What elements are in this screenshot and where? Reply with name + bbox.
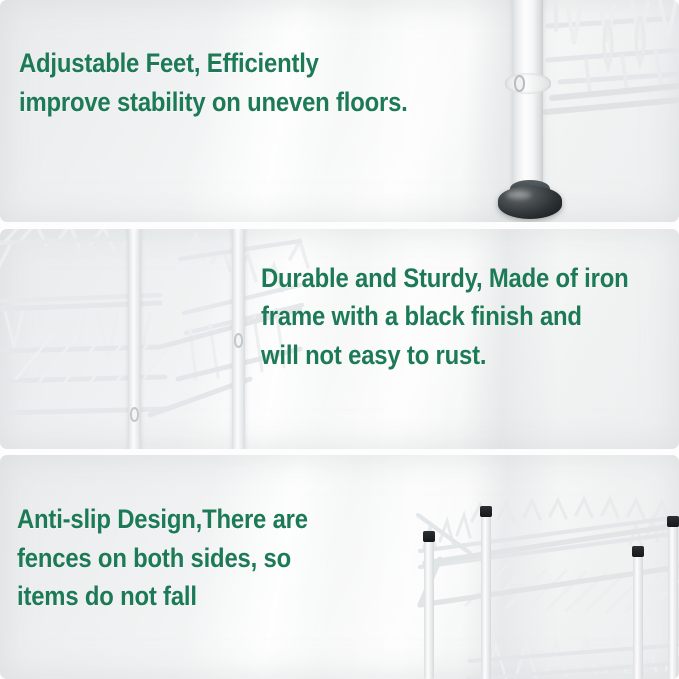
- post-cap-icon: [423, 531, 435, 542]
- adjuster-ring-icon: [514, 75, 525, 92]
- corner-post: [424, 531, 434, 679]
- post-cap-icon: [480, 506, 492, 517]
- adjustable-foot: [498, 186, 562, 219]
- corner-post: [668, 517, 678, 679]
- product-feature-infographic: Adjustable Feet, Efficiently improve sta…: [0, 0, 679, 679]
- feature-panel-anti-slip-design: Anti-slip Design,There are fences on bot…: [0, 455, 679, 679]
- feature-panel-durable-sturdy: Durable and Sturdy, Made of iron frame w…: [0, 229, 679, 449]
- post-cap-icon: [632, 546, 644, 557]
- panel-headline-anti-slip-design: Anti-slip Design,There are fences on bot…: [17, 500, 377, 616]
- adjuster-ring-icon: [130, 407, 139, 422]
- panel-headline-durable-sturdy: Durable and Sturdy, Made of iron frame w…: [261, 259, 648, 375]
- post-cap-icon: [667, 516, 679, 527]
- leg-post: [512, 0, 543, 198]
- foot-highlight: [506, 191, 531, 199]
- panel-headline-adjustable-feet: Adjustable Feet, Efficiently improve sta…: [19, 44, 442, 121]
- leg-collar: [505, 73, 551, 94]
- feature-panel-adjustable-feet: Adjustable Feet, Efficiently improve sta…: [0, 0, 679, 222]
- adjuster-ring-icon: [234, 333, 243, 348]
- corner-post: [633, 547, 643, 679]
- corner-post: [481, 507, 491, 679]
